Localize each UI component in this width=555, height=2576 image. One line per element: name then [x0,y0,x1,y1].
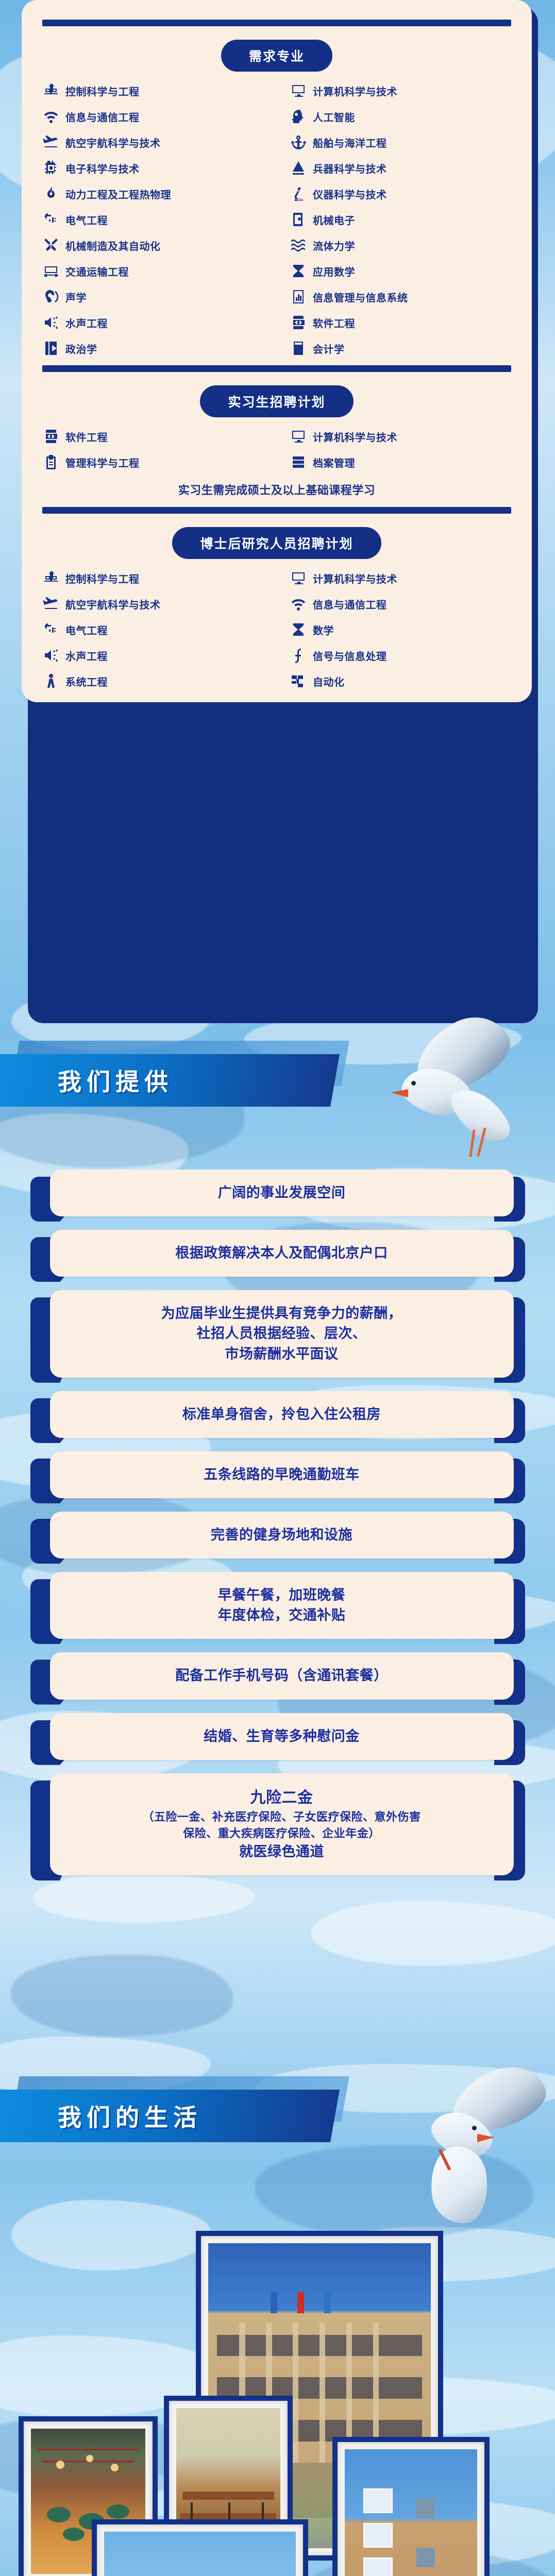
banner-title-life: 我们的生活 [58,2099,202,2133]
major-item: 计算机科学与技术 [291,83,533,98]
benefit-card: 完善的健身场地和设施 [30,1512,525,1558]
benefit-card-body: 根据政策解决本人及配偶北京户口 [50,1230,514,1277]
benefit-text-line: 标准单身宿舍，拎包入住公租房 [65,1404,498,1425]
benefit-text-line: 就医绿色通道 [65,1842,498,1862]
major-item: 兵器科学与技术 [291,160,533,176]
benefit-card-body: 五条线路的早晚通勤班车 [50,1451,514,1498]
divider-majors-bottom [42,365,511,372]
postdoc-grid: 控制科学与工程计算机科学与技术航空宇航科学与技术信息与通信工程电气工程数学水声工… [22,570,532,689]
divider-top [42,20,511,26]
major-label: 水声工程 [65,648,108,663]
benefit-card: 为应届毕业生提供具有竞争力的薪酬，社招人员根据经验、层次、市场薪酬水平面议 [30,1290,525,1377]
major-item: 应用数学 [291,263,533,279]
major-label: 电气工程 [65,212,108,227]
major-label: 兵器科学与技术 [313,161,387,176]
benefit-card-body: 标准单身宿舍，拎包入住公租房 [50,1391,514,1438]
majors-grid: 控制科学与工程计算机科学与技术信息与通信工程人工智能航空宇航科学与技术船舶与海洋… [22,83,532,356]
benefit-text-line: 为应届毕业生提供具有竞争力的薪酬， [65,1303,498,1324]
major-item: 自动化 [291,673,533,689]
major-label: 系统工程 [65,674,108,689]
major-label: 软件工程 [313,315,355,330]
brain-gear-icon [291,109,306,124]
plug-icon [43,622,59,637]
major-label: 控制科学与工程 [65,571,140,586]
waves-icon [291,238,306,253]
major-label: 仪器科学与技术 [313,187,387,201]
phone-gear-icon [291,212,306,227]
major-label: 信息管理与信息系统 [313,290,408,304]
major-label: 航空宇航科学与技术 [65,597,161,612]
major-item: 流体力学 [291,238,533,253]
major-label: 动力工程及工程热物理 [65,187,171,201]
major-item: 人工智能 [291,109,533,124]
major-label: 声学 [65,290,87,304]
person-icon [43,673,59,689]
major-label: 信号与信息处理 [313,648,387,663]
code-brackets-icon [43,429,59,444]
recruitment-panel: 需求专业 控制科学与工程计算机科学与技术信息与通信工程人工智能航空宇航科学与技术… [22,0,532,702]
major-item: 信息管理与信息系统 [291,289,533,304]
major-item: 管理科学与工程 [43,454,291,470]
major-item: 档案管理 [291,454,533,470]
intern-note: 实习生需完成硕士及以上基础课程学习 [22,481,532,498]
airplane-icon [43,596,59,612]
major-item: 计算机科学与技术 [291,429,533,444]
major-item: 动力工程及工程热物理 [43,186,291,201]
benefit-card: 广阔的事业发展空间 [30,1170,525,1216]
anchor-icon [291,134,306,150]
major-item: 机械制造及其自动化 [43,238,291,253]
benefit-card: 九险二金（五险一金、补充医疗保险、子女医疗保险、意外伤害保险、重大疾病医疗保险、… [30,1773,525,1875]
monitor-icon [291,83,306,98]
major-item: 软件工程 [43,429,291,444]
benefit-text-line: 完善的健身场地和设施 [65,1525,498,1545]
section-title-intern: 实习生招聘计划 [200,385,353,417]
benefit-text-line: 早餐午餐，加班晚餐 [65,1585,498,1605]
major-label: 数学 [313,622,334,637]
monitor-icon [291,429,306,444]
major-label: 管理科学与工程 [65,455,140,470]
major-item: 声学 [43,289,291,304]
major-label: 档案管理 [313,455,355,470]
benefit-card-body: 结婚、生育等多种慰问金 [50,1713,514,1760]
photo-office-tower [92,2519,308,2576]
benefit-card-body: 广阔的事业发展空间 [50,1170,514,1216]
benefit-text-line: 广阔的事业发展空间 [65,1183,498,1203]
photo-dormitory [332,2437,490,2576]
tools-icon [43,238,59,253]
sigma-icon [291,263,306,279]
chip-icon [43,160,59,176]
calculator-icon [291,341,306,356]
benefit-card-body: 完善的健身场地和设施 [50,1512,514,1558]
major-label: 自动化 [313,674,345,689]
flame-icon [43,186,59,201]
major-item: 电气工程 [43,212,291,227]
monitor-icon [291,570,306,586]
banner-title-provide: 我们提供 [58,1063,173,1097]
major-item: 电气工程 [43,622,291,637]
major-item: 控制科学与工程 [43,83,291,98]
ear-sound-icon [43,289,59,304]
major-label: 应用数学 [313,264,355,279]
major-item: 控制科学与工程 [43,570,291,586]
speaker-icon [43,315,59,330]
major-label: 电子科学与技术 [65,161,140,176]
automation-icon [291,673,306,689]
robot-arm-icon [43,570,59,586]
major-label: 人工智能 [313,109,355,124]
major-item: 会计学 [291,341,533,356]
major-label: 控制科学与工程 [65,83,140,98]
benefit-text-line: 市场薪酬水平面议 [65,1344,498,1364]
major-label: 船舶与海洋工程 [313,135,387,150]
benefit-card-body: 配备工作手机号码（含通讯套餐） [50,1652,514,1699]
benefit-card: 配备工作手机号码（含通讯套餐） [30,1652,525,1699]
sigma-icon [291,622,306,637]
benefit-text-line: 社招人员根据经验、层次、 [65,1324,498,1344]
wifi-icon [43,109,59,124]
benefit-text-line: 五条线路的早晚通勤班车 [65,1465,498,1485]
benefit-text-line: 根据政策解决本人及配偶北京户口 [65,1243,498,1263]
major-label: 软件工程 [65,429,108,444]
microscope-icon [291,186,306,201]
major-item: 软件工程 [291,315,533,330]
major-label: 流体力学 [313,238,355,253]
major-item: 水声工程 [43,648,291,663]
major-label: 电气工程 [65,622,108,637]
section-title-majors: 需求专业 [221,40,332,72]
major-item: 机械电子 [291,212,533,227]
wifi-icon [291,596,306,612]
major-label: 信息与通信工程 [65,109,140,124]
section-title-postdoc: 博士后研究人员招聘计划 [172,527,381,559]
benefit-text-line: 九险二金 [65,1787,498,1809]
benefit-card-body: 为应届毕业生提供具有竞争力的薪酬，社招人员根据经验、层次、市场薪酬水平面议 [50,1290,514,1377]
book-play-icon [43,341,59,356]
section-banner-provide: 我们提供 [0,1041,555,1107]
benefit-card-body: 九险二金（五险一金、补充医疗保险、子女医疗保险、意外伤害保险、重大疾病医疗保险、… [50,1773,514,1875]
benefit-card: 五条线路的早晚通勤班车 [30,1451,525,1498]
major-item: 信息与通信工程 [291,596,533,612]
major-item: 信息与通信工程 [43,109,291,124]
major-label: 会计学 [313,341,345,356]
major-item: 交通运输工程 [43,263,291,279]
major-label: 航空宇航科学与技术 [65,135,161,150]
major-label: 政治学 [65,341,97,356]
major-item: 政治学 [43,341,291,356]
benefit-text-line: 配备工作手机号码（含通讯套餐） [65,1666,498,1686]
photo-gallery [0,2231,555,2576]
major-label: 机械制造及其自动化 [65,238,161,253]
major-label: 计算机科学与技术 [313,571,397,586]
major-item: 系统工程 [43,673,291,689]
major-item: 电子科学与技术 [43,160,291,176]
divider-intern-bottom [42,507,511,514]
major-item: 数学 [291,622,533,637]
speaker-icon [43,648,59,663]
benefit-text-line: 结婚、生育等多种慰问金 [65,1726,498,1747]
benefit-card: 根据政策解决本人及配偶北京户口 [30,1230,525,1277]
major-label: 交通运输工程 [65,264,129,279]
benefits-list: 广阔的事业发展空间根据政策解决本人及配偶北京户口为应届毕业生提供具有竞争力的薪酬… [0,1170,555,1889]
benefit-text-line: 保险、重大疾病医疗保险、企业年金） [65,1825,498,1842]
major-label: 计算机科学与技术 [313,83,397,98]
major-item: 仪器科学与技术 [291,186,533,201]
integral-icon [291,648,306,663]
robot-arm-icon [43,83,59,98]
server-icon [291,454,306,470]
benefit-card-body: 早餐午餐，加班晚餐年度体检，交通补贴 [50,1572,514,1639]
benefit-text-line: （五险一金、补充医疗保险、子女医疗保险、意外伤害 [65,1809,498,1825]
major-label: 水声工程 [65,315,108,330]
missile-icon [291,160,306,176]
major-label: 计算机科学与技术 [313,429,397,444]
major-item: 航空宇航科学与技术 [43,596,291,612]
benefit-text-line: 年度体检，交通补贴 [65,1605,498,1625]
major-item: 航空宇航科学与技术 [43,134,291,150]
major-item: 水声工程 [43,315,291,330]
bus-icon [43,263,59,279]
bar-chart-icon [291,289,306,304]
benefit-card: 结婚、生育等多种慰问金 [30,1713,525,1760]
plug-icon [43,212,59,227]
major-item: 信号与信息处理 [291,648,533,663]
major-label: 机械电子 [313,212,355,227]
major-label: 信息与通信工程 [313,597,387,612]
benefit-card: 早餐午餐，加班晚餐年度体检，交通补贴 [30,1572,525,1639]
section-banner-life: 我们的生活 [0,2076,555,2142]
intern-grid: 软件工程计算机科学与技术管理科学与工程档案管理 [22,429,532,470]
major-item: 船舶与海洋工程 [291,134,533,150]
clipboard-icon [43,454,59,470]
benefit-card: 标准单身宿舍，拎包入住公租房 [30,1391,525,1438]
major-item: 计算机科学与技术 [291,570,533,586]
airplane-icon [43,134,59,150]
code-brackets-icon [291,315,306,330]
